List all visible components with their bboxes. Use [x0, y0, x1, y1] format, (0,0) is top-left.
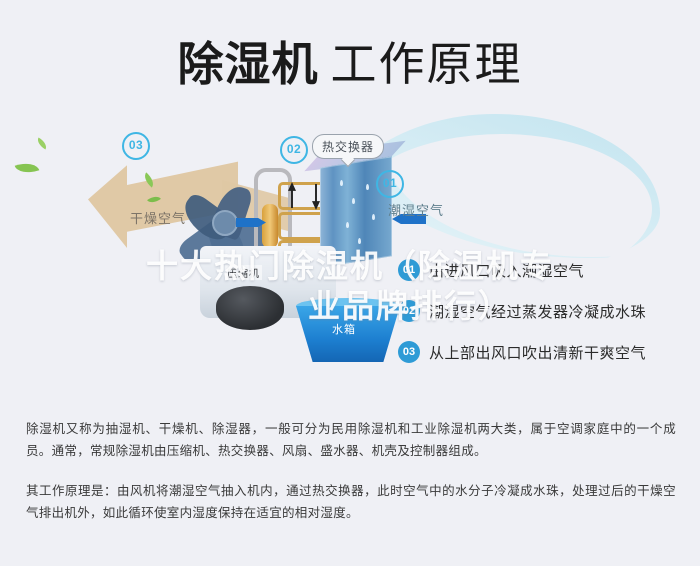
page-title-light: 工作原理	[331, 38, 523, 90]
fan-hub	[212, 210, 238, 236]
list-item: 02 潮湿空气经过蒸发器冷凝成水珠	[398, 297, 688, 325]
step-text: 由进风口吸入潮湿空气	[429, 260, 584, 281]
list-item: 01 由进风口吸入潮湿空气	[398, 256, 688, 284]
water-droplet	[346, 222, 349, 228]
leaf-icon	[15, 159, 40, 177]
step-number-badge: 02	[398, 300, 420, 322]
compressor-unit	[216, 286, 284, 330]
compressor-label: 压缩机	[225, 265, 262, 280]
step-number-badge: 01	[398, 259, 420, 281]
leaf-icon	[35, 137, 49, 149]
water-droplet	[366, 184, 369, 190]
list-item: 03 从上部出风口吹出清新干爽空气	[398, 338, 688, 366]
diagram-badge-02: 02	[280, 136, 308, 164]
step-number-badge: 03	[398, 341, 420, 363]
article-body: 除湿机又称为抽湿机、干燥机、除湿器，一般可分为民用除湿机和工业除湿机两大类，属于…	[26, 418, 676, 542]
heat-exchanger-callout: 热交换器	[312, 134, 384, 159]
step-text: 潮湿空气经过蒸发器冷凝成水珠	[429, 301, 646, 322]
water-droplet	[372, 214, 375, 220]
diagram-badge-01: 01	[376, 170, 404, 198]
paragraph-definition: 除湿机又称为抽湿机、干燥机、除湿器，一般可分为民用除湿机和工业除湿机两大类，属于…	[26, 418, 676, 462]
water-droplet	[352, 198, 355, 204]
page-title-bold: 除湿机	[178, 38, 319, 90]
paragraph-working-principle: 其工作原理是：由风机将潮湿空气抽入机内，通过热交换器，此时空气中的水分子冷凝成水…	[26, 480, 676, 524]
water-tank-label: 水箱	[332, 321, 356, 337]
diagram-badge-03: 03	[122, 132, 150, 160]
step-text: 从上部出风口吹出清新干爽空气	[429, 342, 646, 363]
page-title: 除湿机工作原理	[0, 28, 700, 94]
water-droplet	[340, 180, 343, 186]
principle-step-list: 01 由进风口吸入潮湿空气 02 潮湿空气经过蒸发器冷凝成水珠 03 从上部出风…	[398, 256, 688, 379]
moist-air-label: 潮湿空气	[388, 200, 444, 219]
receiver-cylinder	[262, 204, 278, 248]
water-droplet	[358, 238, 361, 244]
